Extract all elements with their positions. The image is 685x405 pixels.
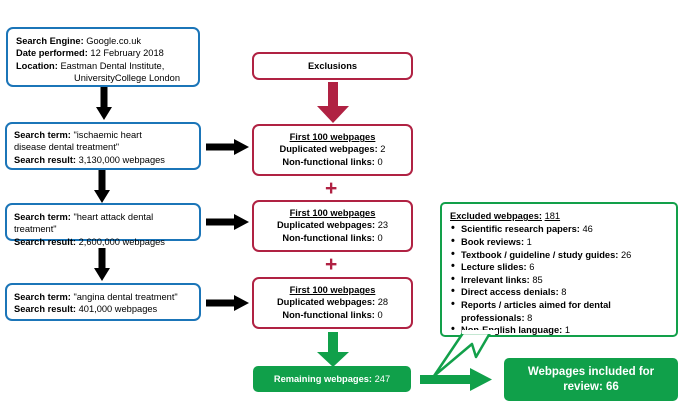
excluded-item-label-5: Direct access denials: [461, 287, 559, 297]
nonfunctional-value-1: 0 [377, 157, 382, 167]
duplicated-line-2: Duplicated webpages: 23 [258, 219, 407, 231]
excluded-item-value-3: 6 [529, 262, 534, 272]
duplicated-label-3: Duplicated webpages: [277, 297, 375, 307]
search-term-label-3: Search term: [14, 292, 71, 302]
list-item: Textbook / guideline / study guides: 26 [450, 249, 668, 262]
search-term-value-3: "angina dental treatment" [73, 292, 177, 302]
list-item: Direct access denials: 8 [450, 286, 668, 299]
excluded-item-label-4: Irrelevant links: [461, 275, 530, 285]
location-value-2: UniversityCollege London [74, 73, 180, 83]
excluded-item-label-6: Reports / articles aimed for dental prof… [461, 300, 611, 323]
nonfunctional-label-2: Non-functional links: [282, 233, 374, 243]
search-result-value-1: 3,130,000 webpages [79, 155, 165, 165]
search-engine-label: Search Engine: [16, 36, 84, 46]
nonfunctional-value-2: 0 [377, 233, 382, 243]
excluded-title-label: Excluded webpages: [450, 211, 542, 221]
search-result-label-3: Search result: [14, 304, 76, 314]
search-result-line-2: Search result: 2,600,000 webpages [14, 236, 192, 248]
list-item: Reports / articles aimed for dental prof… [450, 299, 668, 324]
arrow-right-search1-to-first100-1 [206, 137, 250, 157]
nonfunctional-line-3: Non-functional links: 0 [258, 309, 407, 321]
search-term-value-1b: disease dental treatment" [14, 142, 119, 152]
excluded-item-value-2: 26 [621, 250, 631, 260]
arrow-down-search2-to-search3 [93, 248, 111, 282]
nonfunctional-label-1: Non-functional links: [282, 157, 374, 167]
duplicated-line-3: Duplicated webpages: 28 [258, 296, 407, 308]
included-line-1: Webpages included for [528, 365, 654, 380]
search-result-value-3: 401,000 webpages [79, 304, 158, 314]
exclusions-box: Exclusions [252, 52, 413, 80]
location-line-2: UniversityCollege London [16, 72, 190, 84]
excluded-item-value-0: 46 [582, 224, 592, 234]
first-100-box-3: First 100 webpages Duplicated webpages: … [252, 277, 413, 329]
search-result-line-1: Search result: 3,130,000 webpages [14, 154, 192, 166]
excluded-title-line: Excluded webpages: 181 [450, 210, 668, 222]
arrow-down-header-to-search1 [95, 87, 113, 121]
search-engine-line: Search Engine: Google.co.uk [16, 35, 190, 47]
excluded-title-value: 181 [545, 211, 561, 221]
list-item: Irrelevant links: 85 [450, 274, 668, 287]
search-result-label-2: Search result: [14, 237, 76, 247]
first-100-box-2: First 100 webpages Duplicated webpages: … [252, 200, 413, 252]
search-term-value-1a: "ischaemic heart [73, 130, 141, 140]
first-100-title-2: First 100 webpages [258, 207, 407, 219]
duplicated-value-2: 23 [378, 220, 388, 230]
plus-icon-1: + [325, 178, 337, 199]
duplicated-value-3: 28 [378, 297, 388, 307]
first-100-title-3: First 100 webpages [258, 284, 407, 296]
excluded-reasons-list: Scientific research papers: 46 Book revi… [450, 223, 668, 336]
search-term-label-1: Search term: [14, 130, 71, 140]
excluded-item-label-0: Scientific research papers: [461, 224, 580, 234]
webpages-included-box: Webpages included for review: 66 [504, 358, 678, 401]
arrow-down-search1-to-search2 [93, 170, 111, 204]
search-term-box-3: Search term: "angina dental treatment" S… [5, 283, 201, 321]
duplicated-label-2: Duplicated webpages: [277, 220, 375, 230]
arrow-right-search3-to-first100-3 [206, 293, 250, 313]
nonfunctional-label-3: Non-functional links: [282, 310, 374, 320]
arrow-down-first100-to-remaining-green [316, 332, 350, 368]
list-item: Book reviews: 1 [450, 236, 668, 249]
remaining-value: 247 [375, 374, 391, 384]
location-line: Location: Eastman Dental Institute, [16, 60, 190, 72]
first-100-title-1: First 100 webpages [258, 131, 407, 143]
location-label: Location: [16, 61, 58, 71]
arrow-down-exclusions-red [316, 82, 350, 124]
location-value: Eastman Dental Institute, [60, 61, 164, 71]
excluded-item-value-1: 1 [527, 237, 532, 247]
date-performed-value: 12 February 2018 [90, 48, 163, 58]
arrow-right-remaining-to-included-green [420, 367, 494, 393]
exclusions-title: Exclusions [254, 54, 411, 78]
first-100-box-1: First 100 webpages Duplicated webpages: … [252, 124, 413, 176]
excluded-item-value-5: 8 [561, 287, 566, 297]
excluded-item-value-6: 8 [527, 313, 532, 323]
search-term-line-3: Search term: "angina dental treatment" [14, 291, 192, 303]
remaining-label: Remaining webpages: [274, 374, 372, 384]
search-term-line-2: Search term: "heart attack dental treatm… [14, 211, 192, 236]
plus-icon-2: + [325, 254, 337, 275]
list-item: Lecture slides: 6 [450, 261, 668, 274]
nonfunctional-value-3: 0 [377, 310, 382, 320]
search-result-value-2: 2,600,000 webpages [79, 237, 165, 247]
excluded-item-label-2: Textbook / guideline / study guides: [461, 250, 618, 260]
search-term-box-1: Search term: "ischaemic heart disease de… [5, 122, 201, 170]
search-term-box-2: Search term: "heart attack dental treatm… [5, 203, 201, 241]
search-result-label-1: Search result: [14, 155, 76, 165]
search-engine-value: Google.co.uk [86, 36, 141, 46]
excluded-item-value-7: 1 [565, 325, 570, 335]
date-performed-label: Date performed: [16, 48, 88, 58]
nonfunctional-line-1: Non-functional links: 0 [258, 156, 407, 168]
search-term-line-1: Search term: "ischaemic heart [14, 129, 192, 141]
search-result-line-3: Search result: 401,000 webpages [14, 303, 192, 315]
excluded-item-value-4: 85 [532, 275, 542, 285]
excluded-item-label-1: Book reviews: [461, 237, 524, 247]
list-item: Scientific research papers: 46 [450, 223, 668, 236]
included-line-2: review: 66 [563, 380, 619, 395]
duplicated-value-1: 2 [380, 144, 385, 154]
date-performed-line: Date performed: 12 February 2018 [16, 47, 190, 59]
remaining-webpages-box: Remaining webpages: 247 [253, 366, 411, 392]
excluded-webpages-box: Excluded webpages: 181 Scientific resear… [440, 202, 678, 337]
duplicated-line-1: Duplicated webpages: 2 [258, 143, 407, 155]
nonfunctional-line-2: Non-functional links: 0 [258, 232, 407, 244]
search-info-box: Search Engine: Google.co.uk Date perform… [6, 27, 200, 87]
arrow-right-search2-to-first100-2 [206, 212, 250, 232]
search-term-line-1b: disease dental treatment" [14, 141, 192, 153]
search-term-label-2: Search term: [14, 212, 71, 222]
duplicated-label-1: Duplicated webpages: [280, 144, 378, 154]
excluded-item-label-3: Lecture slides: [461, 262, 527, 272]
